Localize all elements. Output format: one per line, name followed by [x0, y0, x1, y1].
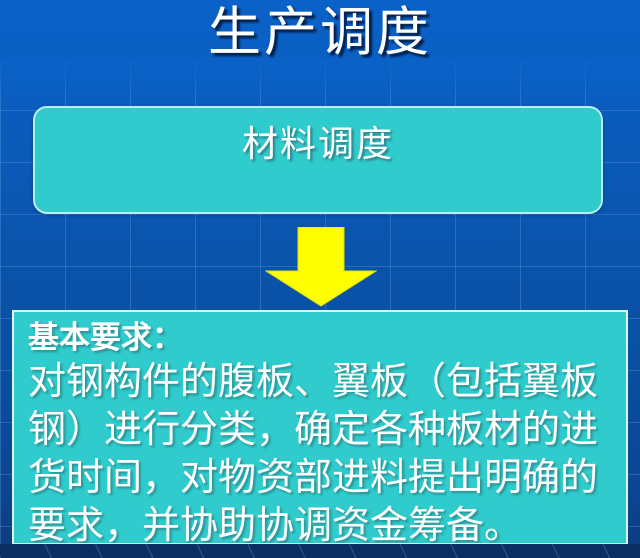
topic-box: 材料调度 — [33, 106, 603, 214]
requirement-body: 对钢构件的腹板、翼板（包括翼板 钢）进行分类，确定各种板材的进 货时间，对物资部… — [28, 358, 614, 545]
requirement-line: 要求，并协助协调资金筹备。 — [28, 502, 614, 545]
page-title: 生产调度 — [0, 2, 640, 64]
topic-box-label: 材料调度 — [35, 122, 601, 166]
requirement-line: 对钢构件的腹板、翼板（包括翼板 — [28, 358, 614, 406]
requirement-panel: 基本要求： 对钢构件的腹板、翼板（包括翼板 钢）进行分类，确定各种板材的进 货时… — [12, 310, 628, 545]
presentation-slide: 生产调度 材料调度 基本要求： 对钢构件的腹板、翼板（包括翼板 钢）进行分类，确… — [0, 0, 640, 558]
requirement-line: 钢）进行分类，确定各种板材的进 — [28, 406, 614, 454]
bottom-band — [0, 544, 640, 558]
requirement-line: 货时间，对物资部进料提出明确的 — [28, 454, 614, 502]
bottom-band-hatch — [0, 544, 640, 558]
background-grid-fade — [0, 58, 640, 104]
arrow-down-icon — [265, 227, 377, 307]
requirement-heading: 基本要求： — [28, 318, 614, 358]
